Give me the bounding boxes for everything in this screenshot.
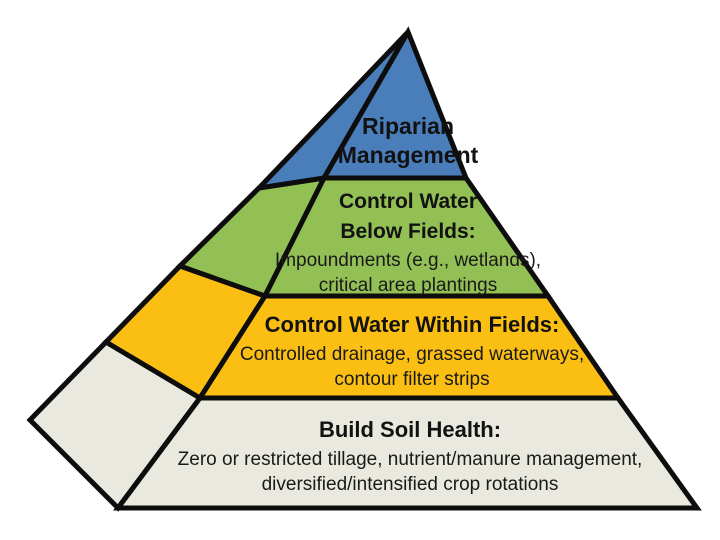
tier4-detail-line2: diversified/intensified crop rotations <box>262 474 559 495</box>
tier2-title-line1: Control Water <box>339 190 477 213</box>
tier3-detail-line2: contour filter strips <box>334 369 489 390</box>
tier1-title-line1: Riparian <box>362 113 454 139</box>
tier2-detail-line1: Impoundments (e.g., wetlands), <box>275 250 541 271</box>
tier3-title-line1: Control Water Within Fields: <box>265 312 560 337</box>
tier2-detail-line2: critical area plantings <box>319 275 497 296</box>
tier1-title-line2: Management <box>338 142 479 168</box>
tier4-detail-line1: Zero or restricted tillage, nutrient/man… <box>178 449 643 470</box>
tier2-title-line2: Below Fields: <box>340 220 475 243</box>
pyramid-graphic: Riparian Management Control Water Below … <box>0 0 720 540</box>
pyramid-diagram: Riparian Management Control Water Below … <box>0 0 720 540</box>
tier3-detail-line1: Controlled drainage, grassed waterways, <box>240 344 584 365</box>
tier4-title-line1: Build Soil Health: <box>319 417 501 442</box>
